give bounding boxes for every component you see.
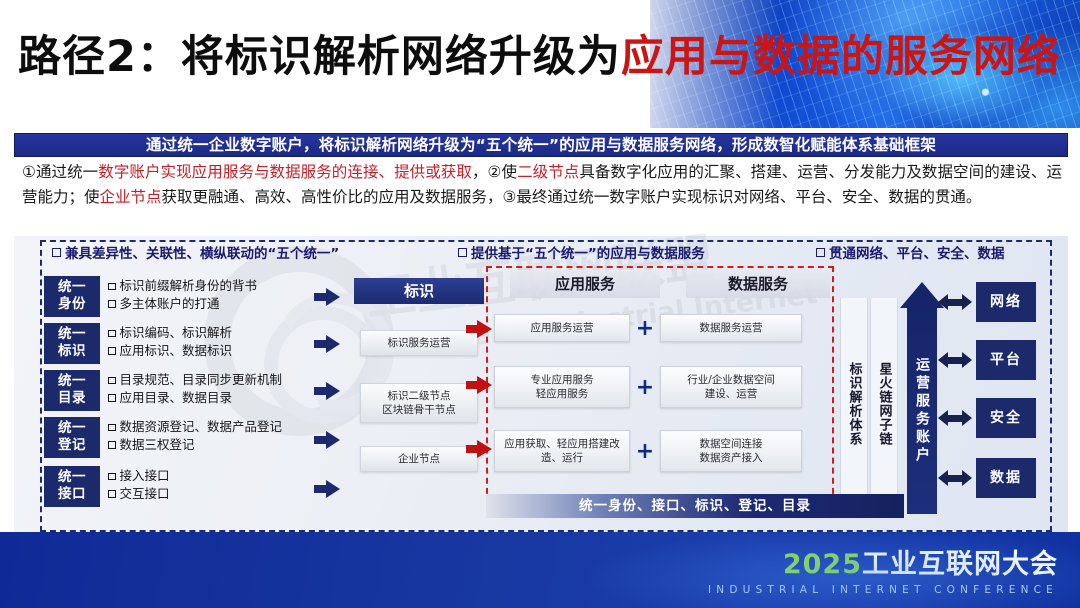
slide-page: 路径2：将标识解析网络升级为应用与数据的服务网络 通过统一企业数字账户，将标识解… [0, 0, 1080, 608]
identity-box-1-label: 标识服务运营 [388, 337, 451, 349]
data-service-box-3-line-2: 数据资产接入 [700, 452, 763, 464]
list-item-label: 交互接口 [120, 486, 170, 501]
capability-items: 标识编码、标识解析 应用标识、数据标识 [108, 323, 232, 359]
bullet-box-icon [108, 347, 116, 355]
para-seg-3: ，②使 [472, 163, 517, 181]
tag-line-1: 统一 [58, 279, 86, 295]
pillar-box-platform[interactable]: 平台 [976, 340, 1036, 380]
capability-row-interface[interactable]: 统一接口 接入接口 交互接口 [44, 466, 306, 507]
identity-box-3[interactable]: 企业节点 [360, 446, 478, 472]
capability-tag-interface: 统一接口 [44, 466, 100, 507]
app-service-header: 应用服务 [510, 270, 660, 298]
double-arrow-icon-2 [938, 352, 972, 368]
data-service-header: 数据服务 [686, 270, 830, 298]
capability-items: 标识前缀解析身份的背书 多主体账户的打通 [108, 276, 257, 312]
app-service-box-2-line-1: 专业应用服务 [531, 374, 594, 386]
app-service-box-1-label: 应用服务运营 [531, 322, 594, 334]
tag-line-1: 统一 [58, 326, 86, 342]
vertical-band-xinghuo-chain: 星火链网子链 [870, 298, 898, 510]
data-service-box-2-line-1: 行业/企业数据空间 [687, 374, 775, 386]
capability-row-registration[interactable]: 统一登记 数据资源登记、数据产品登记 数据三权登记 [44, 417, 306, 458]
identity-box-2-line-2: 区块链骨干节点 [382, 404, 456, 416]
list-item: 数据三权登记 [108, 436, 282, 454]
arrow-right-icon-2 [314, 335, 340, 353]
checkbox-header-2: 提供基于“五个统一”的应用与数据服务 [458, 242, 705, 262]
list-item-label: 标识前缀解析身份的背书 [120, 278, 258, 293]
arrow-red-icon-3 [466, 440, 492, 458]
para-seg-7: 获取更融通、高效、高性价比的应用及数据服务，③最终通过统一数字账户实现标识对网络… [162, 188, 982, 206]
bullet-box-icon [108, 300, 116, 308]
list-item: 应用目录、数据目录 [108, 389, 282, 407]
list-item: 应用标识、数据标识 [108, 342, 232, 360]
service-row-3: 应用获取、轻应用搭建改造、运行 + 数据空间连接数据资产接入 [494, 430, 802, 472]
capability-tag-catalog: 统一目录 [44, 370, 100, 411]
checkbox-header-1-label: 兼具差异性、关联性、横纵联动的“五个统一” [65, 246, 339, 262]
bullet-box-icon [108, 473, 116, 481]
logo-year: 2025 [783, 549, 862, 580]
slide-header: 路径2：将标识解析网络升级为应用与数据的服务网络 [0, 0, 1080, 128]
list-item: 接入接口 [108, 467, 170, 485]
data-service-box-3[interactable]: 数据空间连接数据资产接入 [660, 430, 802, 472]
arrow-right-icon-4 [314, 431, 340, 449]
checkbox-icon [52, 248, 61, 257]
list-item-label: 目录规范、目录同步更新机制 [120, 372, 283, 387]
plus-icon-2: + [630, 375, 660, 400]
capability-items: 接入接口 交互接口 [108, 466, 170, 502]
list-item: 标识前缀解析身份的背书 [108, 277, 257, 295]
identity-column-header: 标识 [354, 278, 484, 304]
tag-line-1: 统一 [58, 469, 86, 485]
tag-line-2: 目录 [58, 390, 86, 406]
list-item-label: 多主体账户的打通 [120, 296, 220, 311]
app-service-box-3-line-2: 造、运行 [541, 452, 583, 464]
bullet-box-icon [108, 441, 116, 449]
tag-line-1: 统一 [58, 373, 86, 389]
arrow-right-icon-1 [314, 288, 340, 306]
data-service-box-3-line-1: 数据空间连接 [700, 438, 763, 450]
tag-line-2: 标识 [58, 343, 86, 359]
double-arrow-icon-4 [938, 470, 972, 486]
arrow-red-icon-2 [466, 376, 492, 394]
app-service-box-2-line-2: 轻应用服务 [536, 388, 589, 400]
list-item-label: 标识编码、标识解析 [120, 325, 233, 340]
unified-capability-column: 统一身份 标识前缀解析身份的背书 多主体账户的打通 统一标识 标识编码、标识解析… [44, 276, 306, 516]
identity-column: 标识 标识服务运营 标识二级节点区块链骨干节点 企业节点 [354, 278, 484, 516]
app-service-box-3-line-1: 应用获取、轻应用搭建改 [504, 438, 620, 450]
checkbox-header-1: 兼具差异性、关联性、横纵联动的“五个统一” [52, 242, 339, 262]
list-item: 目录规范、目录同步更新机制 [108, 371, 282, 389]
data-service-box-2-line-2: 建设、运营 [705, 388, 758, 400]
bullet-box-icon [108, 490, 116, 498]
identity-box-2[interactable]: 标识二级节点区块链骨干节点 [360, 383, 478, 423]
architecture-diagram: 工业互联网联盟 Alliance of Industrial Internet … [14, 236, 1068, 532]
tag-line-2: 登记 [58, 437, 86, 453]
data-service-box-2[interactable]: 行业/企业数据空间建设、运营 [660, 366, 802, 408]
capability-row-catalog[interactable]: 统一目录 目录规范、目录同步更新机制 应用目录、数据目录 [44, 370, 306, 411]
identity-box-1[interactable]: 标识服务运营 [360, 330, 478, 356]
capability-row-label[interactable]: 统一标识 标识编码、标识解析 应用标识、数据标识 [44, 323, 306, 364]
arrow-label: 运营服务账户 [907, 312, 937, 510]
logo-cn: 工业互联网大会 [862, 549, 1058, 580]
capability-tag-identity: 统一身份 [44, 276, 100, 317]
data-service-box-1-label: 数据服务运营 [700, 322, 763, 334]
checkbox-header-3: 贯通网络、平台、安全、数据 [816, 242, 1005, 262]
identity-box-3-label: 企业节点 [398, 453, 440, 465]
list-item-label: 数据资源登记、数据产品登记 [120, 419, 283, 434]
app-service-box-3[interactable]: 应用获取、轻应用搭建改造、运行 [494, 430, 630, 472]
capability-items: 数据资源登记、数据产品登记 数据三权登记 [108, 417, 282, 453]
pillar-box-security[interactable]: 安全 [976, 398, 1036, 438]
slide-footer: 2025工业互联网大会 INDUSTRIAL INTERNET CONFEREN… [0, 532, 1080, 608]
para-seg-6-red: 企业节点 [100, 188, 162, 206]
page-title: 路径2：将标识解析网络升级为应用与数据的服务网络 [18, 22, 1080, 84]
bullet-box-icon [108, 330, 116, 338]
page-title-plain: 路径2：将标识解析网络升级为 [18, 32, 621, 82]
app-service-box-1[interactable]: 应用服务运营 [494, 314, 630, 342]
checkbox-header-3-label: 贯通网络、平台、安全、数据 [829, 246, 1005, 262]
bullet-box-icon [108, 377, 116, 385]
plus-icon-1: + [630, 316, 660, 341]
capability-row-identity[interactable]: 统一身份 标识前缀解析身份的背书 多主体账户的打通 [44, 276, 306, 317]
pillar-box-data[interactable]: 数据 [976, 458, 1036, 498]
foundation-bar: 统一身份、接口、标识、登记、目录 [486, 494, 904, 518]
list-item: 标识编码、标识解析 [108, 324, 232, 342]
para-seg-1: ①通过统一 [22, 163, 98, 181]
double-arrow-icon-3 [938, 410, 972, 426]
arrow-right-icon-5 [314, 480, 340, 498]
arrow-red-icon-1 [466, 320, 492, 338]
bullet-box-icon [108, 394, 116, 402]
list-item: 多主体账户的打通 [108, 295, 257, 313]
arrow-right-icon-3 [314, 382, 340, 400]
service-row-1: 应用服务运营 + 数据服务运营 [494, 314, 802, 342]
logo-subtitle: INDUSTRIAL INTERNET CONFERENCE [708, 584, 1058, 596]
summary-banner: 通过统一企业数字账户，将标识解析网络升级为“五个统一”的应用与数据服务网络，形成… [14, 133, 1068, 157]
logo-main-text: 2025工业互联网大会 [708, 542, 1058, 581]
checkbox-icon [458, 248, 467, 257]
para-seg-4-red: 二级节点 [517, 163, 579, 181]
app-service-box-2[interactable]: 专业应用服务轻应用服务 [494, 366, 630, 408]
service-row-2: 专业应用服务轻应用服务 + 行业/企业数据空间建设、运营 [494, 366, 802, 408]
capability-tag-label: 统一标识 [44, 323, 100, 364]
list-item-label: 应用标识、数据标识 [120, 343, 233, 358]
list-item-label: 数据三权登记 [120, 437, 195, 452]
checkbox-icon [816, 248, 825, 257]
tag-line-2: 身份 [58, 296, 86, 312]
pillar-box-network[interactable]: 网络 [976, 282, 1036, 322]
tag-line-1: 统一 [58, 420, 86, 436]
list-item-label: 应用目录、数据目录 [120, 390, 233, 405]
checkbox-header-row: 兼具差异性、关联性、横纵联动的“五个统一” 提供基于“五个统一”的应用与数据服务… [44, 242, 1050, 264]
page-title-highlight: 应用与数据的服务网络 [621, 32, 1061, 82]
vertical-band-identity-system: 标识解析体系 [840, 298, 868, 510]
double-arrow-icon-1 [938, 294, 972, 310]
checkbox-header-2-label: 提供基于“五个统一”的应用与数据服务 [471, 246, 705, 262]
identity-box-2-line-1: 标识二级节点 [388, 390, 451, 402]
capability-tag-registration: 统一登记 [44, 417, 100, 458]
bullet-box-icon [108, 283, 116, 291]
list-item: 交互接口 [108, 485, 170, 503]
para-seg-2-red: 数字账户实现应用服务与数据服务的连接、提供或获取 [98, 163, 472, 181]
description-paragraph: ①通过统一数字账户实现应用服务与数据服务的连接、提供或获取，②使二级节点具备数字… [22, 160, 1062, 234]
bullet-box-icon [108, 424, 116, 432]
data-service-box-1[interactable]: 数据服务运营 [660, 314, 802, 342]
list-item-label: 接入接口 [120, 468, 170, 483]
conference-logo: 2025工业互联网大会 INDUSTRIAL INTERNET CONFEREN… [708, 542, 1058, 596]
tag-line-2: 接口 [58, 486, 86, 502]
plus-icon-3: + [630, 439, 660, 464]
capability-items: 目录规范、目录同步更新机制 应用目录、数据目录 [108, 370, 282, 406]
list-item: 数据资源登记、数据产品登记 [108, 418, 282, 436]
